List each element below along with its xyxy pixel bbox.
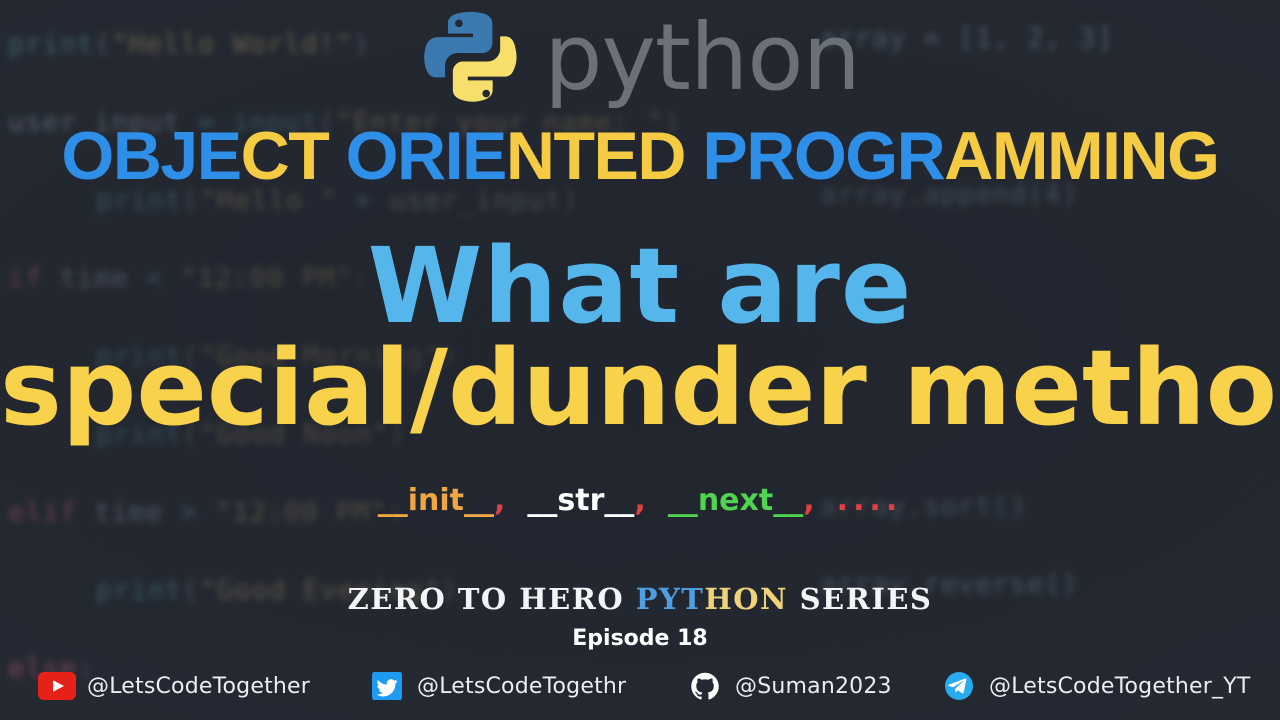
youtube-icon	[38, 672, 76, 700]
dunder-comma-2: ,	[634, 483, 645, 518]
social-item-github[interactable]: @Suman2023	[686, 672, 892, 700]
dunder-ellipsis: ....	[837, 483, 903, 518]
telegram-icon	[940, 672, 978, 700]
series-python-blue: PYT	[636, 582, 705, 616]
series-title: ZERO TO HERO PYTHON SERIES	[0, 585, 1280, 614]
dunder-examples: __init__,__str__,__next__,....	[0, 486, 1280, 516]
series-suffix: SERIES	[788, 582, 932, 616]
python-branding: python	[0, 2, 1280, 117]
title-segment-1: OBJE	[61, 118, 240, 194]
social-item-telegram[interactable]: @LetsCodeTogether_YT	[940, 672, 1251, 700]
dunder-comma-3: ,	[803, 483, 814, 518]
title-segment-4: NTED	[506, 118, 685, 194]
github-icon	[686, 672, 724, 700]
python-logo-icon	[420, 7, 526, 113]
social-bar: @LetsCodeTogether @LetsCodeTogethr @Suma…	[0, 665, 1280, 707]
social-handle-github: @Suman2023	[735, 674, 892, 699]
title-segment-2: CT	[241, 118, 329, 194]
question-line-2: special/dunder methods?	[0, 336, 1280, 440]
episode-label: Episode 18	[0, 628, 1280, 650]
social-item-youtube[interactable]: @LetsCodeTogether	[38, 672, 310, 700]
thumbnail-canvas: print("Hello World!")user_input = input(…	[0, 0, 1280, 720]
social-handle-youtube: @LetsCodeTogether	[87, 674, 310, 699]
social-handle-telegram: @LetsCodeTogether_YT	[989, 674, 1251, 699]
title-segment-6: AMMING	[944, 118, 1218, 194]
social-handle-twitter: @LetsCodeTogethr	[417, 674, 626, 699]
python-wordmark: python	[544, 12, 860, 104]
page-title: OBJECT ORIENTED PROGRAMMING	[0, 122, 1280, 190]
series-prefix: ZERO TO HERO	[348, 582, 636, 616]
social-item-twitter[interactable]: @LetsCodeTogethr	[368, 672, 626, 700]
series-python-yellow: HON	[704, 582, 788, 616]
dunder-next: __next__	[668, 483, 803, 518]
twitter-icon	[368, 672, 406, 700]
dunder-init: __init__	[378, 483, 494, 518]
dunder-str: __str__	[527, 483, 634, 518]
question-line-1: What are	[0, 234, 1280, 338]
title-segment-5: PROGR	[685, 118, 944, 194]
dunder-comma-1: ,	[494, 483, 505, 518]
title-segment-3: ORIE	[328, 118, 506, 194]
